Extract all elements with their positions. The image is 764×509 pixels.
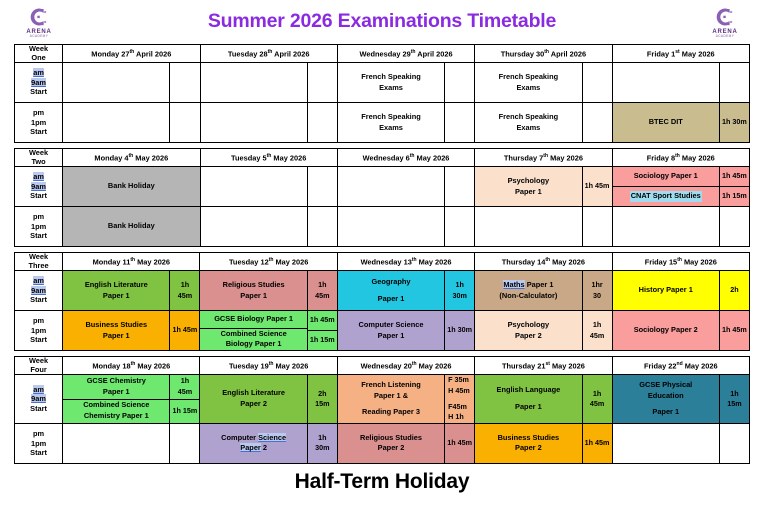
duration-label (583, 63, 612, 102)
exam-cell: PsychologyPaper 1 (475, 167, 582, 207)
exam-cell (63, 423, 170, 463)
duration-label: 1h 45m (445, 424, 474, 463)
exam-subject-label: PsychologyPaper 2 (475, 311, 581, 350)
exam-cell (612, 63, 719, 103)
day-header-2: Tuesday 5th May 2026 (200, 149, 337, 167)
exam-subject-label (338, 167, 444, 206)
duration-cell (445, 103, 475, 143)
duration-label: 1h45m (583, 375, 612, 423)
duration-label: 2h15m (308, 375, 337, 423)
exam-cell (612, 423, 719, 463)
exam-cell (200, 207, 307, 247)
exam-cell: Computer SciencePaper 1 (337, 311, 444, 351)
exam-subject-label: PsychologyPaper 1 (475, 167, 581, 206)
exam-subject-label: French ListeningPaper 1 &Reading Paper 3 (338, 375, 444, 423)
exam-cell (63, 103, 170, 143)
exam-subject-label: Sociology Paper 2 (613, 311, 719, 350)
duration-cell (582, 63, 612, 103)
page-header: ARENA ACADEMY Summer 2026 Examinations T… (0, 0, 764, 44)
duration-label (170, 424, 199, 463)
exam-subject-label: CNAT Sport Studies (613, 187, 719, 206)
exam-cell: French SpeakingExams (337, 103, 444, 143)
pm-session-row: pm1pmStartBank Holiday (15, 207, 750, 247)
exam-cell: French SpeakingExams (475, 103, 582, 143)
exam-subject-label: GeographyPaper 1 (338, 271, 444, 310)
exam-subject-label: GCSE PhysicalEducationPaper 1 (613, 375, 719, 423)
duration-label (583, 207, 612, 246)
exam-subject-label (613, 207, 719, 246)
exam-cell (337, 167, 444, 207)
duration-cell: 1h 45m (719, 311, 749, 351)
duration-cell: 1h45m (307, 271, 337, 311)
week-header-row: WeekThreeMonday 11th May 2026Tuesday 12t… (15, 253, 750, 271)
exam-subject-label: Business StudiesPaper 2 (475, 424, 581, 463)
day-header-5: Friday 1st May 2026 (612, 45, 749, 63)
duration-cell: 1h30m (445, 271, 475, 311)
exam-cell (475, 207, 582, 247)
arena-c-icon (714, 6, 736, 28)
duration-cell: F 35mH 45mF45mH 1h (445, 375, 475, 424)
week-header-row: WeekFourMonday 18th May 2026Tuesday 19th… (15, 357, 750, 375)
duration-cell (170, 103, 200, 143)
exam-cell: Bank Holiday (63, 167, 200, 207)
logo-subtitle: ACADEMY (716, 35, 735, 38)
week-label: WeekFour (15, 357, 63, 375)
exam-subject-label (201, 63, 307, 102)
duration-label: 1h 45m (308, 311, 337, 331)
duration-cell: 1h 45m (582, 423, 612, 463)
exam-cell: English LanguagePaper 1 (475, 375, 582, 424)
exam-subject-label: Combined ScienceChemistry Paper 1 (63, 400, 169, 423)
exam-cell: History Paper 1 (612, 271, 719, 311)
duration-cell: 1h 30m (719, 103, 749, 143)
week-label: WeekOne (15, 45, 63, 63)
duration-label (308, 167, 337, 206)
duration-label (720, 63, 749, 102)
session-label-pm: pm1pmStart (15, 103, 63, 143)
day-header-1: Monday 4th May 2026 (63, 149, 200, 167)
duration-label (583, 103, 612, 142)
duration-label: 1h 45m (583, 167, 612, 206)
exam-subject-label (475, 207, 581, 246)
exam-cell: GCSE PhysicalEducationPaper 1 (612, 375, 719, 424)
exam-subject-label (63, 103, 169, 142)
exam-cell: GeographyPaper 1 (337, 271, 444, 311)
exam-cell: French SpeakingExams (337, 63, 444, 103)
exam-subject-label: English LiteraturePaper 2 (200, 375, 306, 423)
day-header-3: Wednesday 20th May 2026 (337, 357, 474, 375)
duration-cell (582, 103, 612, 143)
pm-session-row: pm1pmStartFrench SpeakingExamsFrench Spe… (15, 103, 750, 143)
duration-cell (719, 207, 749, 247)
exam-cell: Business StudiesPaper 1 (63, 311, 170, 351)
duration-cell: 2h (719, 271, 749, 311)
exam-subject-label: Computer SciencePaper 1 (338, 311, 444, 350)
pm-session-row: pm1pmStartBusiness StudiesPaper 11h 45mG… (15, 311, 750, 351)
duration-cell (307, 167, 337, 207)
day-header-3: Wednesday 13th May 2026 (337, 253, 474, 271)
weeks-container: WeekOneMonday 27th April 2026Tuesday 28t… (0, 44, 764, 464)
exam-subject-label (613, 63, 719, 102)
exam-cell (63, 63, 170, 103)
duration-cell: 1h 45m (445, 423, 475, 463)
pm-session-row: pm1pmStartComputer SciencePaper 21h30mRe… (15, 423, 750, 463)
duration-cell: 1h 45m (170, 311, 200, 351)
exam-cell (200, 167, 307, 207)
duration-cell (445, 167, 475, 207)
session-label-am: am9amStart (15, 63, 63, 103)
duration-cell (445, 207, 475, 247)
exam-subject-label: French SpeakingExams (475, 63, 581, 102)
exam-subject-label: French SpeakingExams (338, 63, 444, 102)
duration-cell (445, 63, 475, 103)
duration-label: 1h 45m (720, 311, 749, 350)
exam-subject-label: Bank Holiday (63, 207, 199, 246)
exam-cell (200, 63, 307, 103)
duration-label: 1h45m (583, 311, 612, 350)
exam-subject-label (613, 424, 719, 463)
logo-subtitle: ACADEMY (30, 35, 49, 38)
duration-cell (582, 207, 612, 247)
duration-cell (170, 63, 200, 103)
exam-cell: Maths Paper 1(Non-Calculator) (475, 271, 582, 311)
duration-cell: 1h 30m (445, 311, 475, 351)
duration-label: 1h45m (308, 271, 337, 310)
duration-label (308, 103, 337, 142)
duration-label: 1h 45m (720, 167, 749, 187)
exam-cell-split: Sociology Paper 1CNAT Sport Studies (612, 167, 719, 207)
duration-label (445, 63, 474, 102)
duration-label (308, 63, 337, 102)
exam-cell: French ListeningPaper 1 &Reading Paper 3 (337, 375, 444, 424)
duration-label: 1h30m (445, 271, 474, 310)
duration-label: 1h 15m (720, 187, 749, 206)
duration-label: 1h 30m (445, 311, 474, 350)
exam-cell: English LiteraturePaper 1 (63, 271, 170, 311)
exam-subject-label: GCSE Biology Paper 1 (200, 311, 306, 329)
exam-cell: Religious StudiesPaper 1 (200, 271, 307, 311)
exam-subject-label: Religious StudiesPaper 1 (200, 271, 306, 310)
duration-cell: 1h45m (170, 271, 200, 311)
day-header-5: Friday 15th May 2026 (612, 253, 749, 271)
exam-subject-label: English LiteraturePaper 1 (63, 271, 169, 310)
week-table-2: WeekTwoMonday 4th May 2026Tuesday 5th Ma… (14, 148, 750, 247)
duration-cell (307, 207, 337, 247)
am-session-row: am9amStartBank HolidayPsychologyPaper 11… (15, 167, 750, 207)
duration-label (720, 207, 749, 246)
exam-subject-label: Computer SciencePaper 2 (200, 424, 306, 463)
duration-cell: 1h 45m (582, 167, 612, 207)
duration-cell-split: 1h 45m1h 15m (719, 167, 749, 207)
duration-label (445, 167, 474, 206)
duration-label: 1h 15m (170, 400, 199, 423)
duration-label (170, 103, 199, 142)
day-header-1: Monday 11th May 2026 (63, 253, 200, 271)
am-session-row: am9amStartEnglish LiteraturePaper 11h45m… (15, 271, 750, 311)
duration-label (308, 207, 337, 246)
session-label-am: am9amStart (15, 271, 63, 311)
duration-cell: 1hr30 (582, 271, 612, 311)
duration-cell (719, 423, 749, 463)
exam-cell: PsychologyPaper 2 (475, 311, 582, 351)
page-title: Summer 2026 Examinations Timetable (0, 10, 764, 33)
duration-cell: 1h45m (582, 311, 612, 351)
duration-cell (307, 63, 337, 103)
duration-label: 1h 45m (583, 424, 612, 463)
duration-cell: 1h15m (719, 375, 749, 424)
week-header-row: WeekTwoMonday 4th May 2026Tuesday 5th Ma… (15, 149, 750, 167)
exam-subject-label: History Paper 1 (613, 271, 719, 310)
exam-subject-label: Bank Holiday (63, 167, 199, 206)
duration-label: 1h45m (170, 271, 199, 310)
exam-subject-label: Combined ScienceBiology Paper 1 (200, 329, 306, 350)
duration-cell (170, 423, 200, 463)
duration-label: 1h30m (308, 424, 337, 463)
exam-subject-label: French SpeakingExams (338, 103, 444, 142)
exam-subject-label: Sociology Paper 1 (613, 167, 719, 187)
exam-subject-label: Religious StudiesPaper 2 (338, 424, 444, 463)
duration-label: 1h 30m (720, 103, 749, 142)
exam-cell: French SpeakingExams (475, 63, 582, 103)
exam-subject-label (63, 424, 169, 463)
am-session-row: am9amStartFrench SpeakingExamsFrench Spe… (15, 63, 750, 103)
day-header-4: Thursday 7th May 2026 (475, 149, 612, 167)
exam-cell-split: GCSE Biology Paper 1Combined ScienceBiol… (200, 311, 307, 351)
session-label-pm: pm1pmStart (15, 423, 63, 463)
duration-label: 2h (720, 271, 749, 310)
week-table-3: WeekThreeMonday 11th May 2026Tuesday 12t… (14, 252, 750, 351)
exam-cell (612, 207, 719, 247)
exam-subject-label (201, 103, 307, 142)
duration-label (170, 63, 199, 102)
duration-label: 1h15m (720, 375, 749, 423)
exam-cell: Computer SciencePaper 2 (200, 423, 307, 463)
exam-cell: Business StudiesPaper 2 (475, 423, 582, 463)
exam-cell: Bank Holiday (63, 207, 200, 247)
duration-cell-split: 1h 45m1h 15m (307, 311, 337, 351)
exam-subject-label: GCSE ChemistryPaper 1 (63, 375, 169, 399)
exam-subject-label: BTEC DIT (613, 103, 719, 142)
duration-cell (307, 103, 337, 143)
exam-subject-label (338, 207, 444, 246)
week-table-1: WeekOneMonday 27th April 2026Tuesday 28t… (14, 44, 750, 143)
timetable-page: ARENA ACADEMY Summer 2026 Examinations T… (0, 0, 764, 509)
exam-subject-label: Maths Paper 1(Non-Calculator) (475, 271, 581, 310)
exam-subject-label (63, 63, 169, 102)
duration-cell (719, 63, 749, 103)
exam-cell (200, 103, 307, 143)
exam-subject-label: Business StudiesPaper 1 (63, 311, 169, 350)
day-header-1: Monday 27th April 2026 (63, 45, 200, 63)
day-header-4: Thursday 14th May 2026 (475, 253, 612, 271)
arena-academy-logo-right: ARENA ACADEMY (702, 3, 748, 41)
session-label-am: am9amStart (15, 167, 63, 207)
exam-cell: Sociology Paper 2 (612, 311, 719, 351)
exam-subject-label (201, 167, 307, 206)
duration-label (445, 103, 474, 142)
day-header-2: Tuesday 12th May 2026 (200, 253, 337, 271)
day-header-1: Monday 18th May 2026 (63, 357, 200, 375)
day-header-2: Tuesday 19th May 2026 (200, 357, 337, 375)
week-table-4: WeekFourMonday 18th May 2026Tuesday 19th… (14, 356, 750, 464)
exam-subject-label (201, 207, 307, 246)
session-label-pm: pm1pmStart (15, 207, 63, 247)
day-header-4: Thursday 30th April 2026 (475, 45, 612, 63)
exam-cell-split: GCSE ChemistryPaper 1Combined ScienceChe… (63, 375, 170, 424)
exam-cell: Religious StudiesPaper 2 (337, 423, 444, 463)
duration-label: 1hr30 (583, 271, 612, 310)
am-session-row: am9amStartGCSE ChemistryPaper 1Combined … (15, 375, 750, 424)
duration-cell-split: 1h45m1h 15m (170, 375, 200, 424)
duration-label: 1h 45m (170, 311, 199, 350)
day-header-3: Wednesday 29th April 2026 (337, 45, 474, 63)
day-header-3: Wednesday 6th May 2026 (337, 149, 474, 167)
exam-subject-label: French SpeakingExams (475, 103, 581, 142)
exam-cell (337, 207, 444, 247)
exam-cell: BTEC DIT (612, 103, 719, 143)
duration-cell: 1h30m (307, 423, 337, 463)
half-term-holiday-label: Half-Term Holiday (0, 470, 764, 494)
duration-label (720, 424, 749, 463)
duration-cell: 1h45m (582, 375, 612, 424)
exam-subject-label: English LanguagePaper 1 (475, 375, 581, 423)
week-label: WeekTwo (15, 149, 63, 167)
day-header-4: Thursday 21st May 2026 (475, 357, 612, 375)
duration-label: 1h45m (170, 375, 199, 399)
day-header-2: Tuesday 28th April 2026 (200, 45, 337, 63)
day-header-5: Friday 22nd May 2026 (612, 357, 749, 375)
duration-label (445, 207, 474, 246)
week-label: WeekThree (15, 253, 63, 271)
day-header-5: Friday 8th May 2026 (612, 149, 749, 167)
session-label-am: am9amStart (15, 375, 63, 424)
exam-cell: English LiteraturePaper 2 (200, 375, 307, 424)
week-header-row: WeekOneMonday 27th April 2026Tuesday 28t… (15, 45, 750, 63)
duration-cell: 2h15m (307, 375, 337, 424)
duration-label: 1h 15m (308, 331, 337, 350)
session-label-pm: pm1pmStart (15, 311, 63, 351)
duration-label: F 35mH 45mF45mH 1h (445, 375, 474, 423)
